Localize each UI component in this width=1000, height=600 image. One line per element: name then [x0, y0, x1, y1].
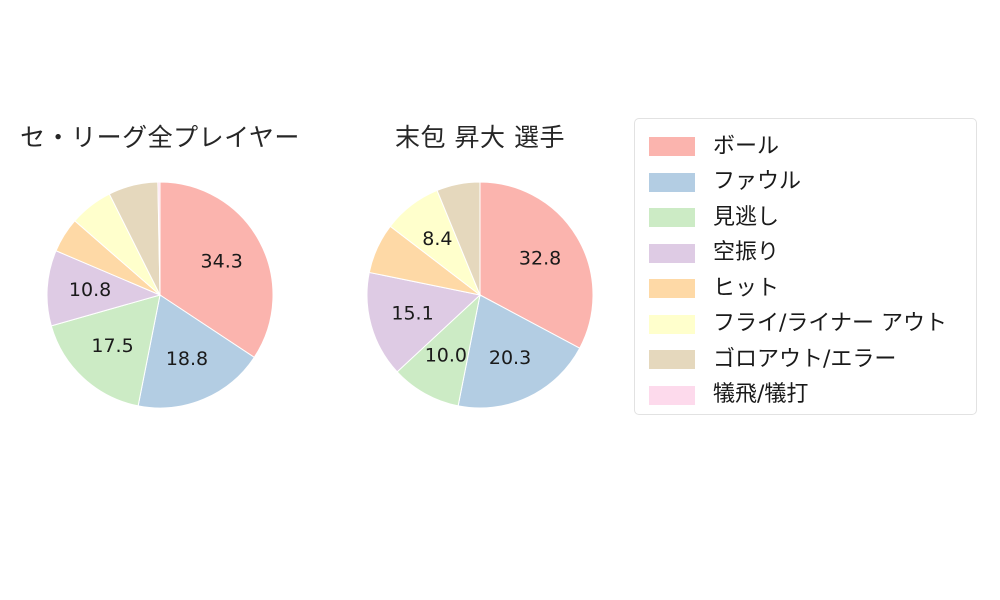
- chart-title-league: セ・リーグ全プレイヤー: [0, 118, 320, 154]
- chart-title-player: 末包 昇大 選手: [320, 118, 640, 154]
- legend-item-label: ボール: [713, 136, 779, 158]
- legend-item-label: ゴロアウト/エラー: [713, 349, 896, 371]
- pie-slice-label: 20.3: [489, 347, 531, 369]
- legend-item-label: 犠飛/犠打: [713, 384, 808, 406]
- chart-panel-league: セ・リーグ全プレイヤー 34.318.817.510.8: [0, 100, 320, 430]
- pie-chart-figure: セ・リーグ全プレイヤー 34.318.817.510.8 末包 昇大 選手 32…: [0, 0, 1000, 600]
- legend-item[interactable]: 空振り: [649, 236, 962, 272]
- legend-item[interactable]: フライ/ライナー アウト: [649, 307, 962, 343]
- legend-swatch-icon: [649, 279, 695, 298]
- pie-player: 32.820.310.015.18.4: [365, 180, 595, 410]
- chart-panel-player: 末包 昇大 選手 32.820.310.015.18.4: [320, 100, 640, 430]
- pie-slice-label: 10.0: [425, 345, 467, 367]
- pie-slice-label: 18.8: [166, 348, 208, 370]
- legend-item[interactable]: 犠飛/犠打: [649, 378, 962, 414]
- pie-slice-label: 34.3: [201, 250, 243, 272]
- legend-swatch-icon: [649, 173, 695, 192]
- pie-slice-label: 8.4: [422, 228, 452, 250]
- pie-slice-label: 15.1: [391, 302, 433, 324]
- pie-league: 34.318.817.510.8: [45, 180, 275, 410]
- pie-svg-league: 34.318.817.510.8: [45, 180, 275, 410]
- legend: ボールファウル見逃し空振りヒットフライ/ライナー アウトゴロアウト/エラー犠飛/…: [634, 118, 977, 415]
- pie-slice-label: 10.8: [69, 279, 111, 301]
- legend-swatch-icon: [649, 244, 695, 263]
- legend-item[interactable]: 見逃し: [649, 200, 962, 236]
- pie-svg-player: 32.820.310.015.18.4: [365, 180, 595, 410]
- legend-swatch-icon: [649, 315, 695, 334]
- pie-slice-label: 32.8: [519, 247, 561, 269]
- legend-swatch-icon: [649, 350, 695, 369]
- legend-item-label: フライ/ライナー アウト: [713, 313, 947, 335]
- legend-swatch-icon: [649, 137, 695, 156]
- legend-item[interactable]: ファウル: [649, 165, 962, 201]
- legend-item-label: 見逃し: [713, 207, 779, 229]
- legend-swatch-icon: [649, 208, 695, 227]
- legend-item-label: ファウル: [713, 171, 801, 193]
- legend-list: ボールファウル見逃し空振りヒットフライ/ライナー アウトゴロアウト/エラー犠飛/…: [649, 129, 962, 413]
- legend-item-label: 空振り: [713, 242, 779, 264]
- legend-item[interactable]: ゴロアウト/エラー: [649, 342, 962, 378]
- pie-slice-label: 17.5: [91, 335, 133, 357]
- legend-swatch-icon: [649, 386, 695, 405]
- legend-item[interactable]: ヒット: [649, 271, 962, 307]
- legend-item-label: ヒット: [713, 278, 779, 300]
- legend-item[interactable]: ボール: [649, 129, 962, 165]
